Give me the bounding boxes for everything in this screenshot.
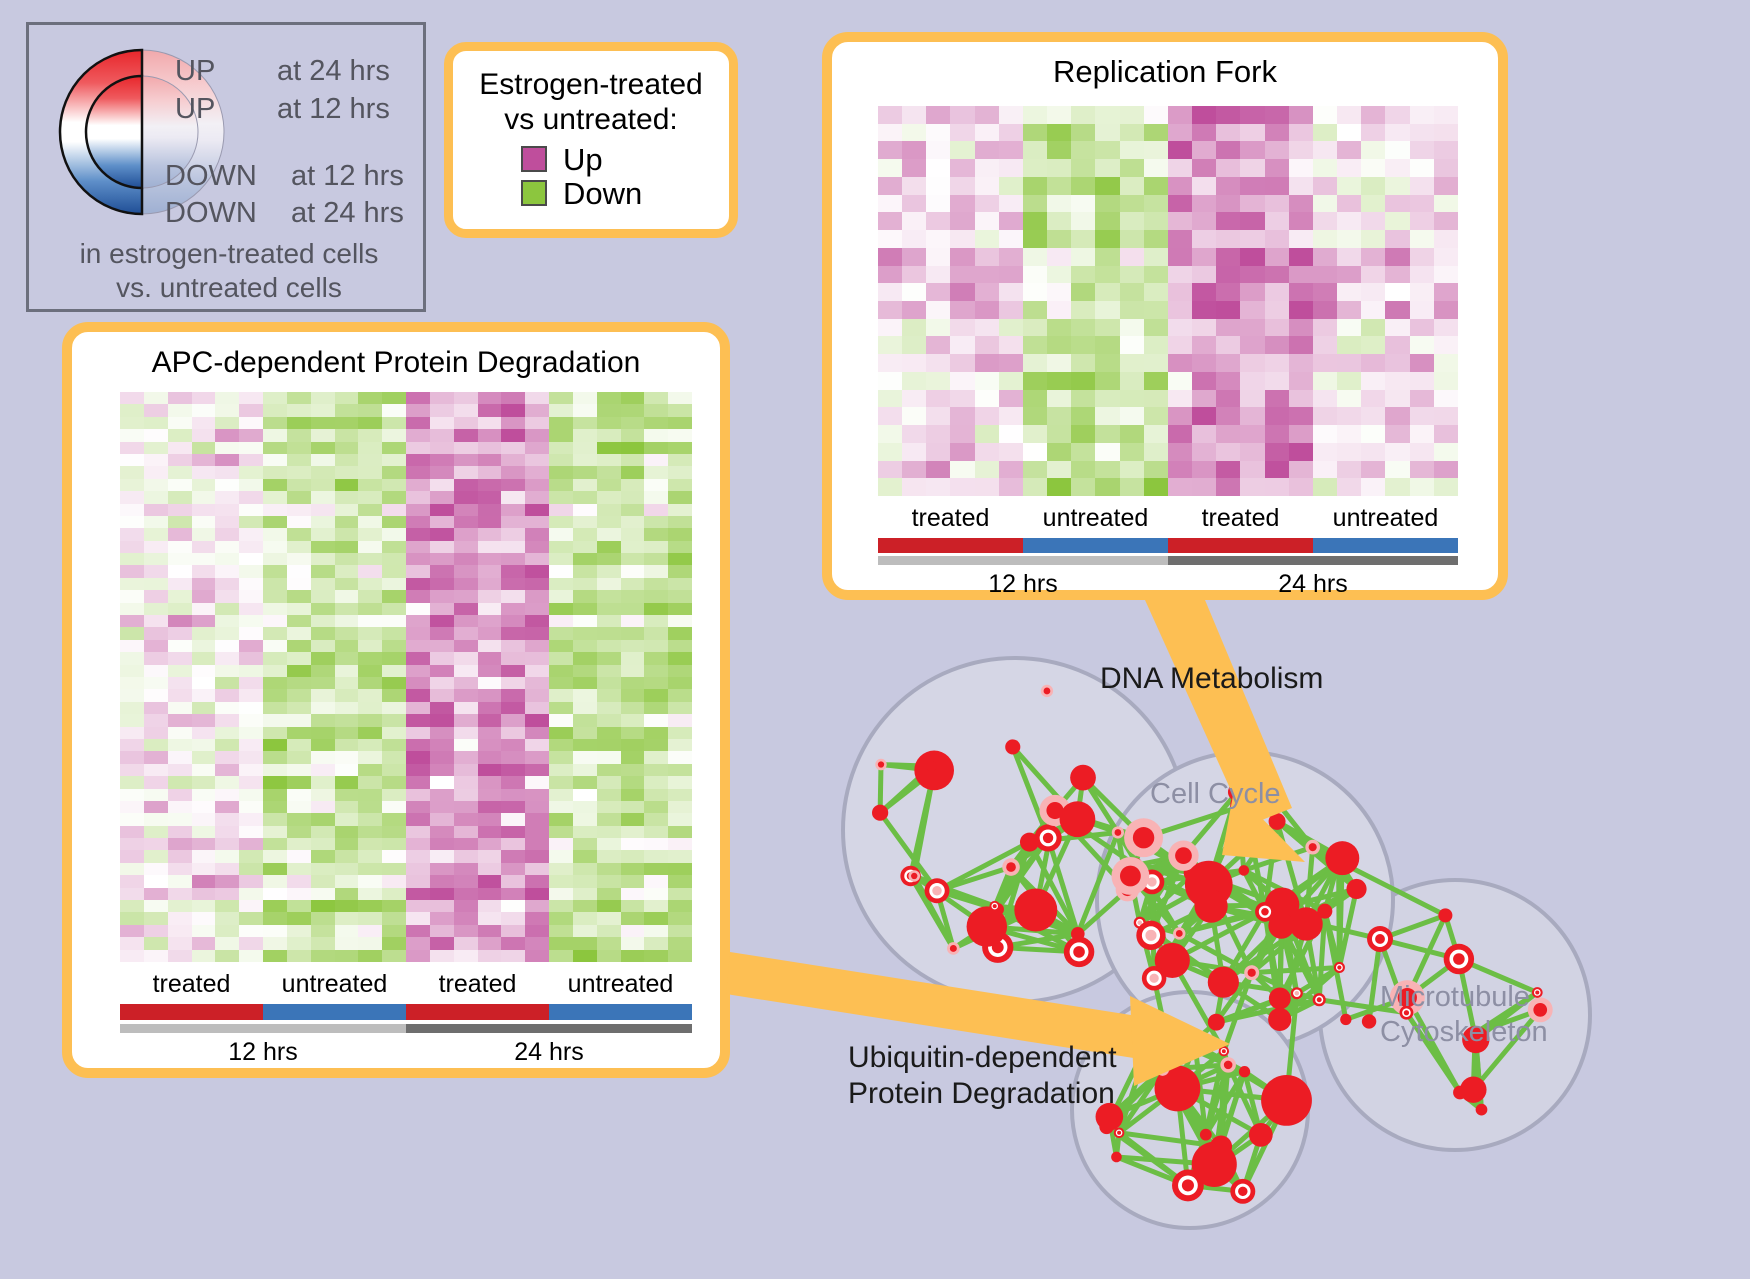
heatmap-cell [1023,354,1047,372]
network-node[interactable] [1002,858,1020,876]
heatmap-cell [454,516,478,528]
heatmap-cell [1120,230,1144,248]
heatmap-cell [950,443,974,461]
heatmap-cell [144,504,168,516]
heatmap-cell [168,950,192,962]
heatmap-cell [1095,212,1119,230]
heatmap-cell [454,640,478,652]
heatmap-cell [525,665,549,677]
heatmap-cell [382,875,406,887]
heatmap-cell [478,801,502,813]
heatmap-cell [525,640,549,652]
network-node[interactable] [1476,1104,1488,1116]
heatmap-cell [406,900,430,912]
network-node[interactable] [1367,926,1393,952]
heatmap-cell [1192,106,1216,124]
heatmap-cell [311,615,335,627]
time-color-bar-replication-fork [878,556,1458,565]
network-node[interactable] [1070,765,1096,791]
heatmap-cell [454,615,478,627]
heatmap-cell [382,665,406,677]
heatmap-cell [239,516,263,528]
heatmap-cell [549,863,573,875]
heatmap-cell [1216,478,1240,496]
network-node[interactable] [1060,801,1096,837]
heatmap-cell [573,826,597,838]
network-node[interactable] [1156,1063,1169,1076]
heatmap-cell [215,404,239,416]
heatmap-cell [144,429,168,441]
network-node[interactable] [1334,962,1345,973]
heatmap-cell [1434,177,1458,195]
heatmap-cell [525,578,549,590]
heatmap-cell [501,677,525,689]
heatmap-cell [335,491,359,503]
heatmap-cell [1337,141,1361,159]
heatmap-cell [1023,195,1047,213]
network-node[interactable] [1020,833,1039,852]
heatmap-cell [144,417,168,429]
heatmap-cell [597,541,621,553]
heatmap-cell [1434,425,1458,443]
network-node[interactable] [1244,965,1259,980]
network-node[interactable] [1200,1129,1212,1141]
heatmap-cell [501,764,525,776]
network-node[interactable] [1239,1066,1250,1077]
heatmap-cell [478,466,502,478]
heatmap-cell [1047,407,1071,425]
heatmap-cell [1047,390,1071,408]
network-node[interactable] [1305,840,1320,855]
heatmap-cell [975,390,999,408]
heatmap-cell [430,826,454,838]
network-node[interactable] [1255,902,1275,922]
heatmap-cell [597,479,621,491]
network-node[interactable] [1239,865,1250,876]
heatmap-cell [382,429,406,441]
heatmap-cell [1095,177,1119,195]
network-node[interactable] [1325,841,1359,875]
heatmap-cell [454,838,478,850]
heatmap-cell [358,491,382,503]
heatmap-cell [430,541,454,553]
heatmap-cell [1144,124,1168,142]
heatmap-cell [1240,443,1264,461]
heatmap-cell [263,640,287,652]
heatmap-cell [975,301,999,319]
heatmap-cell [311,454,335,466]
heatmap-cell [621,392,645,404]
heatmap-cell [168,404,192,416]
heatmap-cell [1023,177,1047,195]
heatmap-cell [668,491,692,503]
heatmap-cell [1361,266,1385,284]
network-node[interactable] [1340,1014,1351,1025]
heatmap-cell [621,627,645,639]
heatmap-cell [263,417,287,429]
heatmap-cell [239,912,263,924]
heatmap-cell [335,603,359,615]
network-node[interactable] [1362,1014,1376,1028]
network-node[interactable] [1111,1152,1122,1163]
heatmap-cell [478,838,502,850]
node-core [1239,1066,1250,1077]
heatmap-cell [192,392,216,404]
network-node[interactable] [1460,1076,1486,1102]
heatmap-cell [263,466,287,478]
heatmap-cell [263,627,287,639]
heatmap-cell [1240,212,1264,230]
network-node[interactable] [1346,879,1366,899]
network-node[interactable] [1005,739,1020,754]
heatmap-cell [144,714,168,726]
heatmap-cell [215,751,239,763]
heatmap-cell [144,553,168,565]
heatmap-cell [1216,283,1240,301]
heatmap-cell [215,640,239,652]
heatmap-cell [1361,407,1385,425]
network-node[interactable] [1071,927,1085,941]
node-core [1340,1014,1351,1025]
heatmap-cell [573,578,597,590]
heatmap-cell [668,888,692,900]
network-node[interactable] [1124,818,1163,857]
heatmap-cell [478,429,502,441]
heatmap-cell [1192,478,1216,496]
network-node[interactable] [1034,824,1061,851]
heatmap-cell [311,801,335,813]
heatmap-cell [1047,354,1071,372]
heatmap-cell [999,212,1023,230]
legend-item-down-label: Down [563,178,642,209]
heatmap-cell [1289,443,1313,461]
heatmap-cell [1434,212,1458,230]
heatmap-cell [478,516,502,528]
network-node[interactable] [1111,857,1149,895]
heatmap-cell [1071,195,1095,213]
heatmap-cell [668,702,692,714]
heatmap-cell [430,627,454,639]
node-core [926,761,936,771]
heatmap-cell [215,776,239,788]
heatmap-cell [621,764,645,776]
heatmap-cell [501,900,525,912]
heatmap-cell [358,565,382,577]
network-node[interactable] [1317,904,1332,919]
heatmap-cell [406,801,430,813]
heatmap-cell [1361,248,1385,266]
heatmap-cell [1120,177,1144,195]
group-label-untreated-12: untreated [1023,504,1168,533]
heatmap-cell [525,442,549,454]
heatmap-cell [878,443,902,461]
heatmap-cell [525,479,549,491]
heatmap-cell [192,937,216,949]
heatmap-cell [263,615,287,627]
heatmap-cell [215,838,239,850]
heatmap-cell [239,727,263,739]
network-node[interactable] [1249,1123,1273,1147]
heatmap-cell [597,417,621,429]
network-node[interactable] [1142,966,1167,991]
pathway-network-diagram [790,600,1750,1279]
heatmap-cell [525,417,549,429]
bar-time-24 [1168,556,1458,565]
heatmap-cell [287,652,311,664]
network-node[interactable] [1313,993,1326,1006]
heatmap-cell [1168,372,1192,390]
heatmap-cell [878,478,902,496]
heatmap-cell [263,479,287,491]
network-node[interactable] [1172,1169,1204,1201]
heatmap-cell [668,479,692,491]
network-node[interactable] [1064,937,1095,968]
heatmap-cell [1095,407,1119,425]
heatmap-cell [120,813,144,825]
heatmap-cell [621,603,645,615]
network-node[interactable] [925,878,950,903]
heatmap-cell [501,429,525,441]
heatmap-cell [335,838,359,850]
heatmap-cell [215,925,239,937]
heatmap-cell [120,727,144,739]
heatmap-cell [1240,407,1264,425]
heatmap-cell [263,739,287,751]
heatmap-cell [382,764,406,776]
heatmap-cell [1385,195,1409,213]
heatmap-cell [382,603,406,615]
heatmap-cell [215,900,239,912]
heatmap-cell [144,912,168,924]
network-node[interactable] [1444,944,1474,974]
heatmap-cell [573,516,597,528]
heatmap-cell [1240,372,1264,390]
heatmap-cell [1144,461,1168,479]
heatmap-cell [287,454,311,466]
heatmap-cell [287,776,311,788]
node-core [1261,1075,1312,1126]
heatmap-cell [549,838,573,850]
heatmap-cell [144,578,168,590]
heatmap-cell [1144,195,1168,213]
heatmap-cell [478,900,502,912]
network-node[interactable] [1014,889,1057,932]
heatmap-cell [1361,301,1385,319]
heatmap-cell [668,801,692,813]
heatmap-cell [1361,478,1385,496]
group-label-treated-12: treated [878,504,1023,533]
heatmap-cell [454,603,478,615]
network-node[interactable] [1269,988,1291,1010]
heatmap-cell [1265,407,1289,425]
heatmap-cell [1361,230,1385,248]
node-core [1309,843,1317,851]
heatmap-cell [406,950,430,962]
bar-time-24 [406,1024,692,1033]
heatmap-cell [311,466,335,478]
heatmap-cell [287,702,311,714]
heatmap-cell [192,689,216,701]
heatmap-cell [926,336,950,354]
heatmap-cell [621,442,645,454]
network-node[interactable] [1136,921,1165,950]
heatmap-cell [926,425,950,443]
heatmap-cell [1023,283,1047,301]
network-node[interactable] [1438,908,1452,922]
heatmap-cell [311,516,335,528]
network-node[interactable] [875,759,886,770]
heatmap-cell [902,336,926,354]
heatmap-cell [1120,159,1144,177]
heatmap-cell [1216,336,1240,354]
heatmap-cell [644,850,668,862]
heatmap-cell [406,925,430,937]
heatmap-cell [120,627,144,639]
heatmap-cell [1095,230,1119,248]
heatmap-cell [1410,336,1434,354]
node-core [1224,1061,1233,1070]
heatmap-cell [144,900,168,912]
group-label-untreated-24: untreated [549,970,692,999]
heatmap-cell [668,417,692,429]
network-node[interactable] [1269,813,1286,830]
network-node[interactable] [1230,1179,1255,1204]
heatmap-cell [287,950,311,962]
network-node[interactable] [926,761,936,771]
heatmap-cell [1144,425,1168,443]
heatmap-cell [1313,425,1337,443]
node-core [1317,997,1322,1002]
node-core [967,906,1007,946]
network-node[interactable] [1210,1136,1232,1158]
heatmap-cell [1095,425,1119,443]
network-node[interactable] [989,901,1000,912]
heatmap-cell [311,826,335,838]
heatmap-cell [878,159,902,177]
heatmap-cell [192,491,216,503]
heatmap-cell [1240,177,1264,195]
heatmap-cell [311,751,335,763]
heatmap-cell [902,478,926,496]
heatmap-cell [215,826,239,838]
network-node[interactable] [1187,1037,1203,1053]
network-node[interactable] [1268,1008,1291,1031]
heatmap-cell [525,801,549,813]
heatmap-cell [621,925,645,937]
heatmap-cell [668,578,692,590]
heatmap-cell [621,404,645,416]
node-core [1238,1187,1247,1196]
network-node[interactable] [1261,1075,1312,1126]
heatmap-cell [1240,461,1264,479]
key-label-down-12: DOWN [165,160,257,193]
heatmap-cell [878,195,902,213]
heatmap-cell [215,689,239,701]
heatmap-cell [478,627,502,639]
network-node[interactable] [1220,1057,1236,1073]
heatmap-cell [1240,301,1264,319]
network-node[interactable] [1041,685,1053,697]
key-footer-line1: in estrogen-treated cells [29,237,429,271]
heatmap-cell [1168,390,1192,408]
heatmap-cell [668,442,692,454]
heatmap-cell [597,491,621,503]
heatmap-cell [263,925,287,937]
treatment-color-bar-apc [120,1004,692,1020]
heatmap-cell [192,442,216,454]
heatmap-cell [382,615,406,627]
network-node[interactable] [1173,927,1185,939]
heatmap-cell [597,429,621,441]
heatmap-cell [120,925,144,937]
network-node[interactable] [1291,987,1303,999]
heatmap-cell [573,751,597,763]
heatmap-cell [358,751,382,763]
heatmap-cell [1313,106,1337,124]
bar-time-12 [878,556,1168,565]
heatmap-cell [406,838,430,850]
network-node[interactable] [872,805,888,821]
heatmap-cell [120,603,144,615]
heatmap-cell [1216,443,1240,461]
network-node[interactable] [908,870,920,882]
heatmap-cell [902,301,926,319]
heatmap-cell [525,826,549,838]
network-node[interactable] [1208,967,1239,998]
network-node[interactable] [967,906,1007,946]
heatmap-cell [573,429,597,441]
heatmap-cell [1071,336,1095,354]
heatmap-cell [621,813,645,825]
heatmap-cell [1361,372,1385,390]
network-node[interactable] [947,942,960,955]
heatmap-cell [335,392,359,404]
heatmap-cell [1337,124,1361,142]
node-core [911,873,917,879]
heatmap-cell [311,528,335,540]
heatmap-cell [263,863,287,875]
heatmap-cell [192,764,216,776]
heatmap-cell [358,479,382,491]
heatmap-cell [192,429,216,441]
heatmap-cell [1265,425,1289,443]
heatmap-cell [478,950,502,962]
heatmap-cell [1047,266,1071,284]
heatmap-cell [525,677,549,689]
legend-item-up-label: Up [563,144,603,175]
network-node[interactable] [1141,1020,1165,1044]
heatmap-cell [215,454,239,466]
network-node[interactable] [1219,1046,1229,1056]
network-node[interactable] [1112,826,1124,838]
heatmap-cell [999,141,1023,159]
heatmap-cell [192,789,216,801]
heatmap-cell [1313,212,1337,230]
network-node[interactable] [1194,890,1227,923]
heatmap-cell [668,727,692,739]
heatmap-cell [311,417,335,429]
heatmap-cell [144,727,168,739]
heatmap-cell [287,677,311,689]
heatmap-cell [144,603,168,615]
heatmap-cell [406,776,430,788]
node-core [950,945,957,952]
heatmap-cell [926,354,950,372]
network-node[interactable] [1208,1014,1225,1031]
heatmap-cell [1337,212,1361,230]
heatmap-cell [621,900,645,912]
heatmap-cell [215,429,239,441]
